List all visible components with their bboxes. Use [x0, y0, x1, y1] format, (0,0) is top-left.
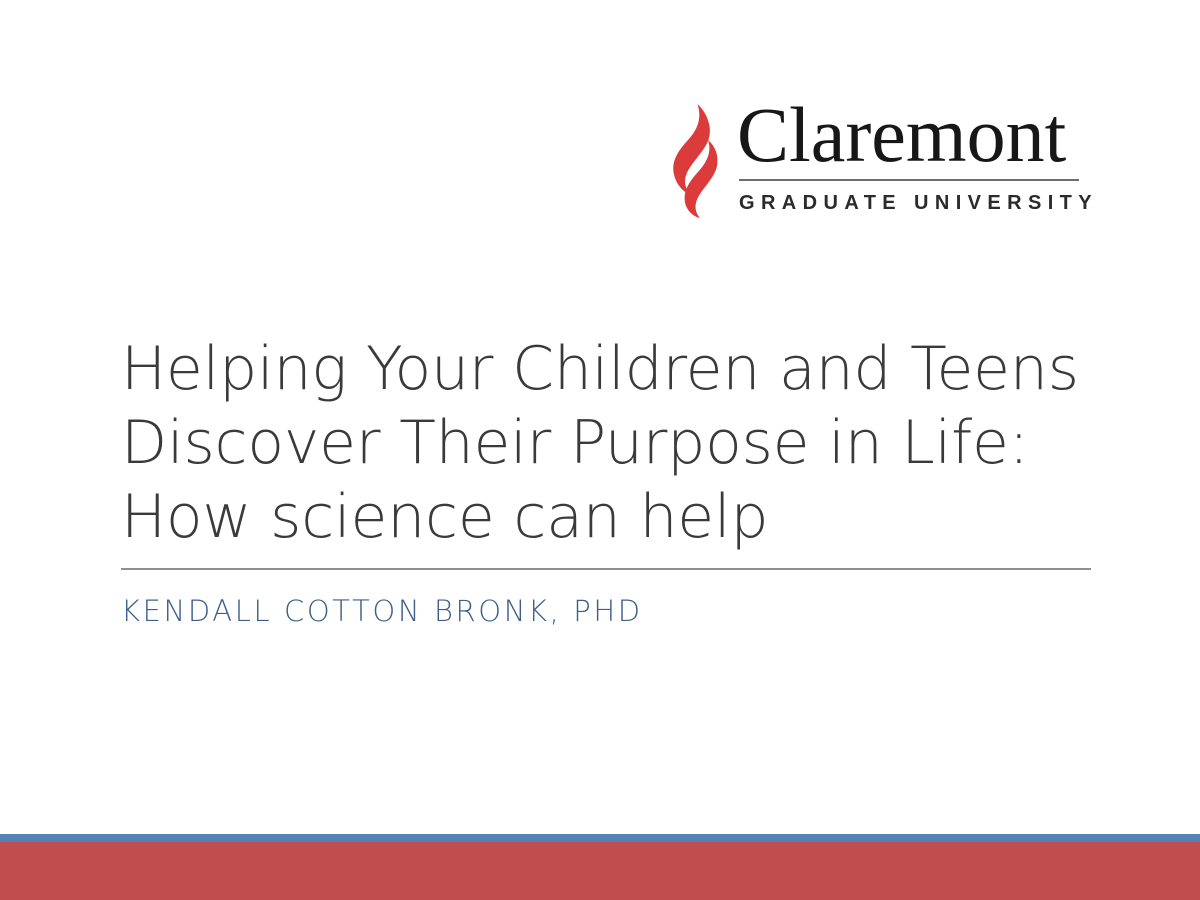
title-line-2: Discover Their Purpose in Life:: [121, 406, 1101, 480]
flame-icon: [664, 102, 720, 218]
logo-subtext: GRADUATE UNIVERSITY: [739, 192, 1079, 215]
logo-wordmark: Claremont: [737, 96, 1079, 174]
page-title: Helping Your Children and Teens Discover…: [121, 332, 1101, 554]
logo-text-group: Claremont GRADUATE UNIVERSITY: [737, 96, 1079, 215]
logo-divider-rule: [739, 179, 1079, 181]
footer-blue-bar: [0, 834, 1200, 842]
title-line-3: How science can help: [121, 480, 1101, 554]
presenter-subtitle: KENDALL COTTON BRONK, PHD: [121, 591, 643, 631]
title-divider: [121, 568, 1091, 570]
footer-red-bar: [0, 842, 1200, 900]
title-slide: Claremont GRADUATE UNIVERSITY Helping Yo…: [0, 0, 1200, 900]
claremont-graduate-university-logo: Claremont GRADUATE UNIVERSITY: [660, 96, 1080, 226]
title-line-1: Helping Your Children and Teens: [121, 332, 1101, 406]
